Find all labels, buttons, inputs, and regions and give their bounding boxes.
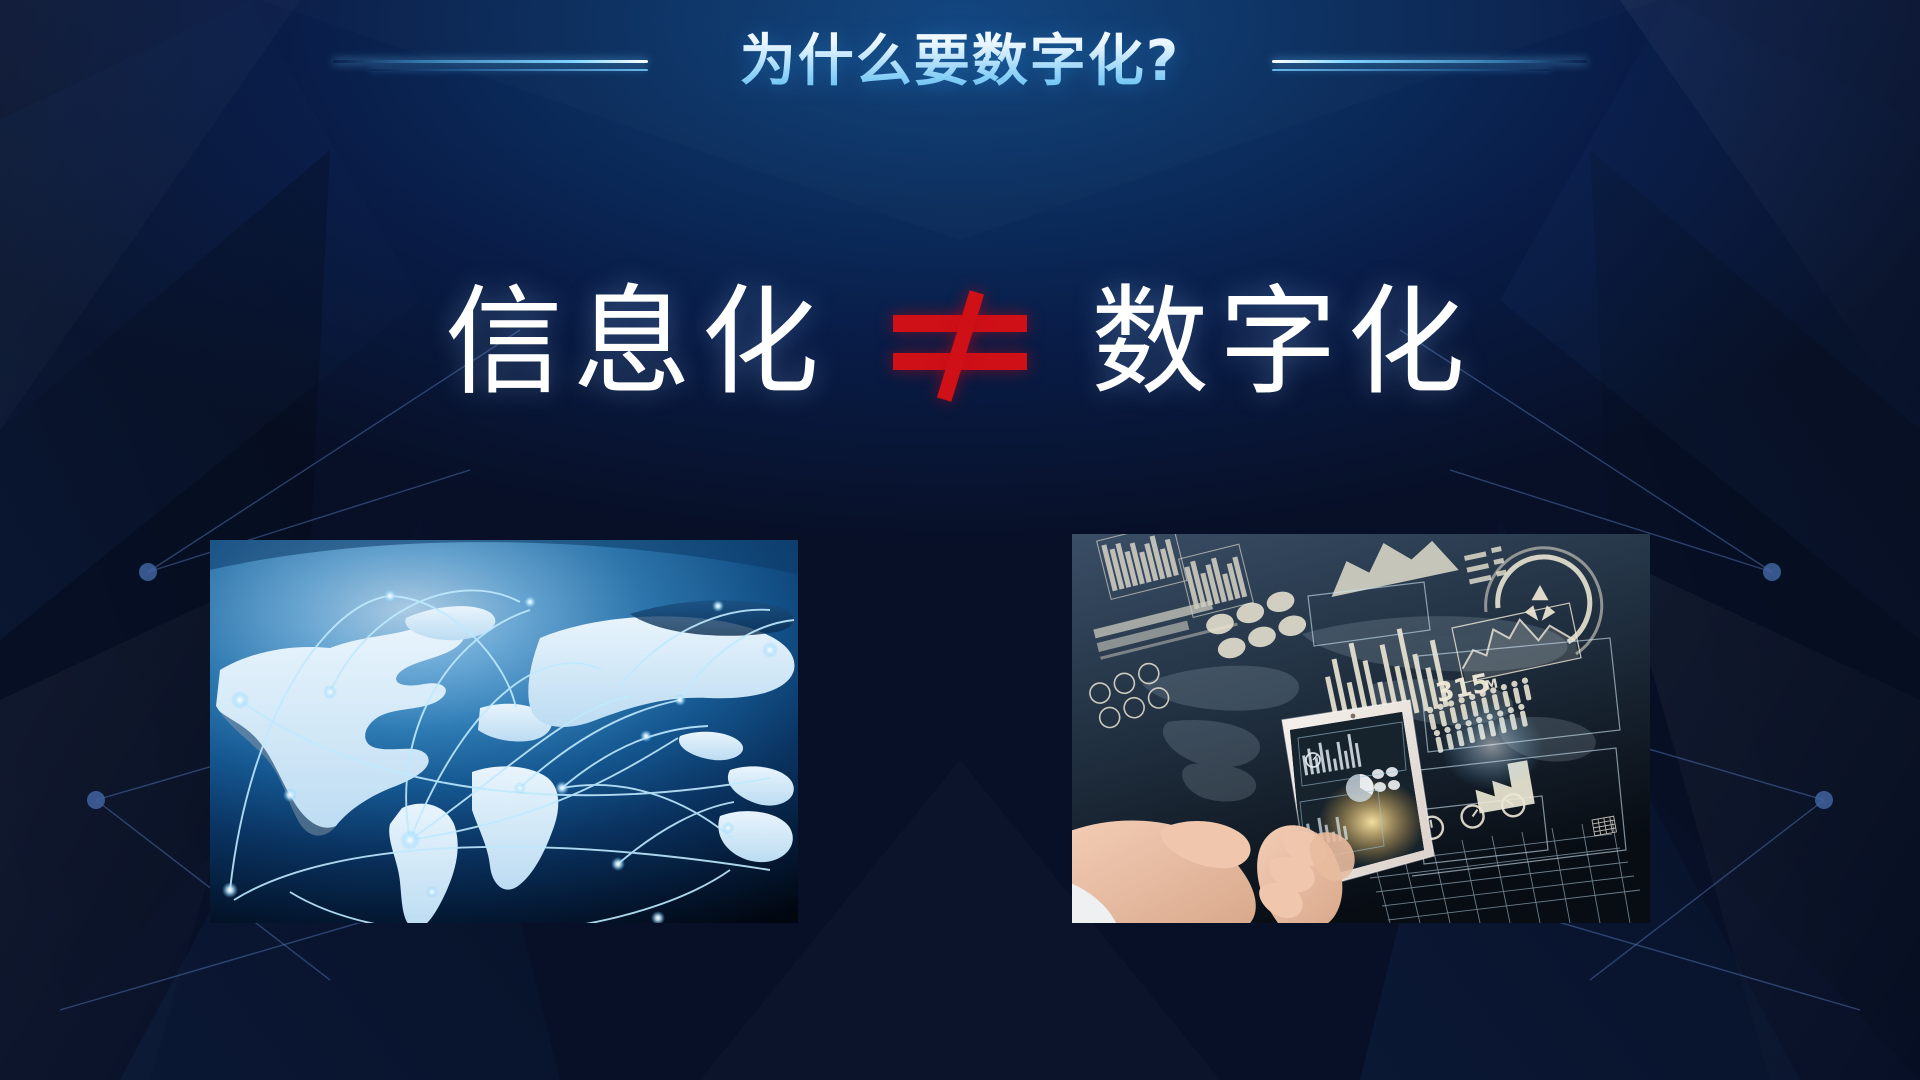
divider-line-primary (1272, 60, 1587, 63)
slide-root: 为什么要数字化? 信息化 数字化 (0, 0, 1920, 1080)
term-digitalization: 数字化 (1068, 283, 1498, 401)
equation-row: 信息化 数字化 (0, 272, 1920, 412)
not-equal-icon (870, 277, 1050, 407)
term-informatization: 信息化 (422, 283, 852, 401)
divider-line-secondary (1272, 69, 1551, 71)
data-dashboard-illustration: 315 M (1072, 534, 1650, 923)
world-map-icon (210, 540, 798, 923)
informatization-image (210, 540, 798, 923)
page-title: 为什么要数字化? (0, 16, 1920, 97)
not-equal-slash (937, 290, 984, 401)
slide-header: 为什么要数字化? (0, 0, 1920, 118)
title-divider-right (1272, 52, 1587, 78)
digitalization-image: 315 M (1072, 534, 1650, 923)
panel-row: 315 M (0, 540, 1920, 932)
